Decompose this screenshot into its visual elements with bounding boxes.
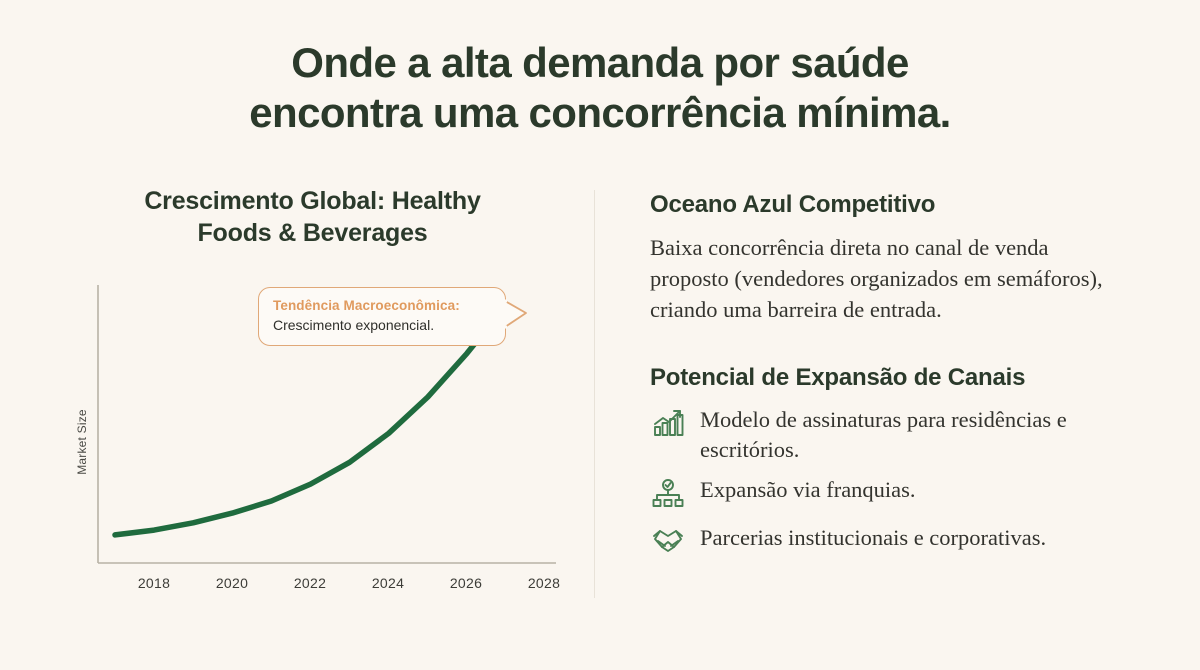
list-item-label: Parcerias institucionais e corporativas. — [700, 523, 1130, 553]
x-tick: 2026 — [427, 575, 505, 591]
section-paragraph-blue-ocean: Baixa concorrência direta no canal de ve… — [650, 232, 1130, 325]
page-title: Onde a alta demanda por saúde encontra u… — [0, 38, 1200, 138]
callout-body-text: Crescimento exponencial. — [273, 316, 493, 335]
chart-title: Crescimento Global: Healthy Foods & Beve… — [68, 185, 558, 249]
list-item: Expansão via franquias. — [650, 475, 1150, 513]
section-heading-channel-expansion: Potencial de Expansão de Canais — [650, 363, 1150, 393]
handshake-icon — [650, 527, 686, 561]
franchise-network-icon — [650, 479, 686, 513]
x-tick: 2028 — [505, 575, 583, 591]
list-item-label: Expansão via franquias. — [700, 475, 1130, 505]
channel-expansion-list: Modelo de assinaturas para residências e… — [650, 405, 1150, 561]
page-title-line-2: encontra uma concorrência mínima. — [0, 88, 1200, 138]
chart-annotation-callout: Tendência Macroeconômica: Crescimento ex… — [258, 287, 506, 346]
callout-lead-text: Tendência Macroeconômica: — [273, 297, 493, 315]
list-item: Parcerias institucionais e corporativas. — [650, 523, 1150, 561]
list-item-label: Modelo de assinaturas para residências e… — [700, 405, 1130, 465]
x-axis-ticks: 2018 2020 2022 2024 2026 2028 — [115, 575, 585, 591]
section-heading-blue-ocean: Oceano Azul Competitivo — [650, 190, 1150, 220]
list-item: Modelo de assinaturas para residências e… — [650, 405, 1150, 465]
chart-title-line-1: Crescimento Global: Healthy — [68, 185, 558, 217]
x-tick: 2022 — [271, 575, 349, 591]
column-divider — [594, 190, 595, 598]
chart-panel: Crescimento Global: Healthy Foods & Beve… — [40, 185, 585, 610]
x-tick: 2018 — [115, 575, 193, 591]
x-tick: 2020 — [193, 575, 271, 591]
right-content-panel: Oceano Azul Competitivo Baixa concorrênc… — [650, 190, 1150, 571]
bar-chart-growth-icon — [650, 409, 686, 443]
callout-tail-icon — [504, 298, 530, 332]
page-title-line-1: Onde a alta demanda por saúde — [0, 38, 1200, 88]
x-tick: 2024 — [349, 575, 427, 591]
chart-title-line-2: Foods & Beverages — [68, 217, 558, 249]
